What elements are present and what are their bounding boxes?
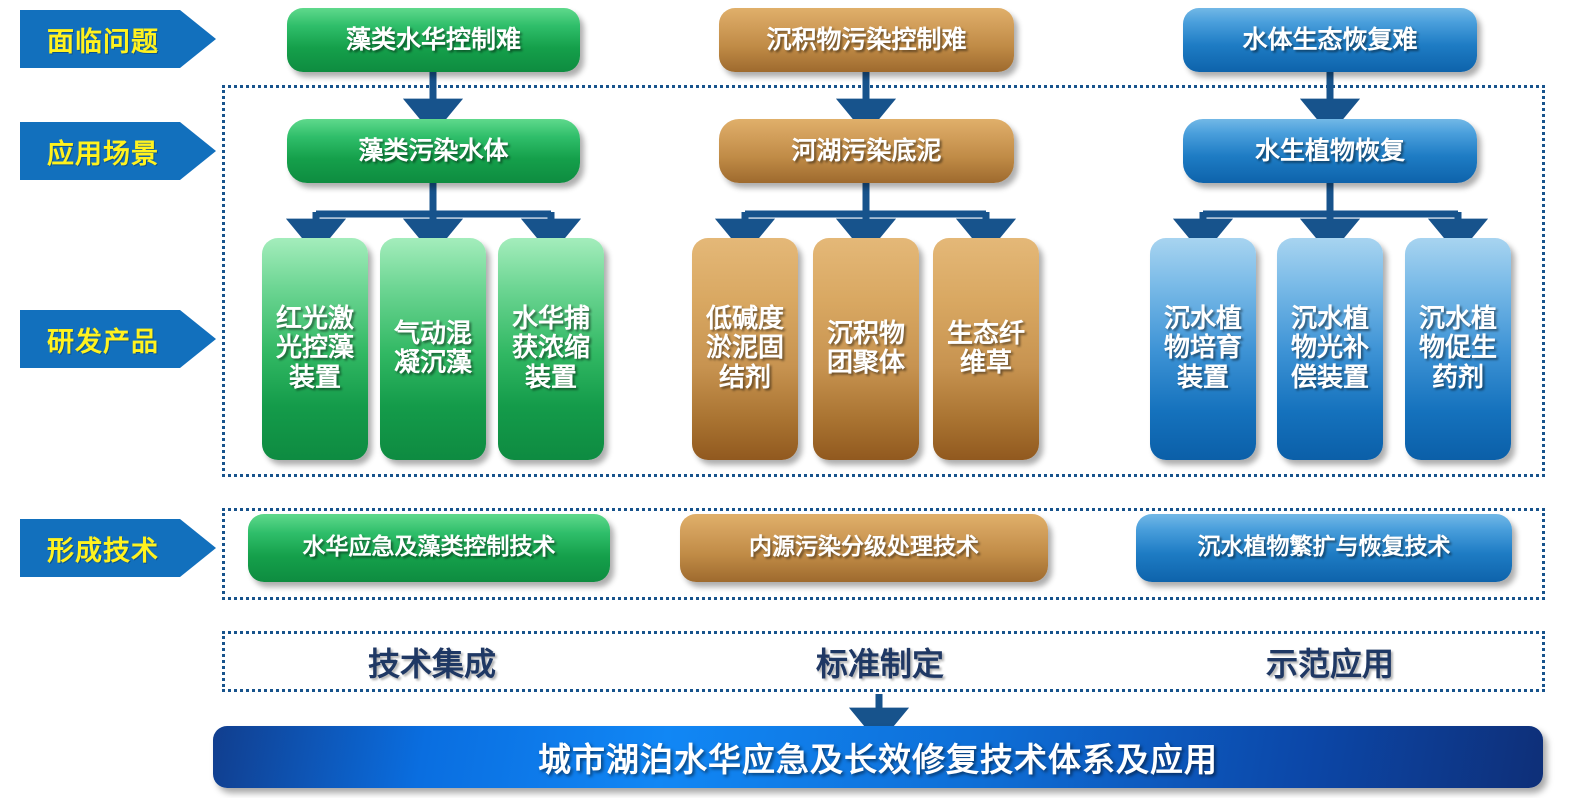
product-box-ecology-2-text: 沉水植物光补偿装置 [1281,305,1379,392]
product-box-sediment-2-text: 沉积物团聚体 [817,320,915,378]
row-label-products: 研发产品 [20,310,216,368]
scenario-box-sediment[interactable]: 河湖污染底泥 [719,119,1014,183]
row-label-scenarios-text: 应用场景 [47,132,159,171]
problem-box-sediment[interactable]: 沉积物污染控制难 [719,8,1014,72]
problem-box-ecology[interactable]: 水体生态恢复难 [1183,8,1477,72]
product-box-algae-3[interactable]: 水华捕获浓缩装置 [498,238,604,460]
stage-label-standard-text: 标准制定 [816,639,944,685]
product-box-algae-2-text: 气动混凝沉藻 [384,320,482,378]
row-label-problems: 面临问题 [20,10,216,68]
row-label-technologies-text: 形成技术 [47,529,159,568]
scenario-box-ecology[interactable]: 水生植物恢复 [1183,119,1477,183]
product-box-ecology-2[interactable]: 沉水植物光补偿装置 [1277,238,1383,460]
technology-box-sediment[interactable]: 内源污染分级处理技术 [680,514,1048,582]
stage-label-demonstration-text: 示范应用 [1266,639,1394,685]
row-label-products-text: 研发产品 [47,320,159,359]
technology-box-algae[interactable]: 水华应急及藻类控制技术 [248,514,610,582]
product-box-algae-3-text: 水华捕获浓缩装置 [502,305,600,392]
scenario-box-algae-text: 藻类污染水体 [358,137,508,165]
product-box-sediment-3[interactable]: 生态纤维草 [933,238,1039,460]
technology-box-sediment-text: 内源污染分级处理技术 [749,535,979,561]
stage-label-integration: 技术集成 [262,634,602,689]
problem-box-algae[interactable]: 藻类水华控制难 [287,8,580,72]
stage-label-integration-text: 技术集成 [368,639,496,685]
product-box-sediment-1-text: 低碱度淤泥固结剂 [696,305,794,392]
technology-box-ecology[interactable]: 沉水植物繁扩与恢复技术 [1136,514,1512,582]
stage-label-standard: 标准制定 [710,634,1050,689]
stage-label-demonstration: 示范应用 [1160,634,1500,689]
technology-box-algae-text: 水华应急及藻类控制技术 [303,535,556,561]
scenario-box-ecology-text: 水生植物恢复 [1255,137,1405,165]
product-box-ecology-1[interactable]: 沉水植物培育装置 [1150,238,1256,460]
final-title-bar[interactable]: 城市湖泊水华应急及长效修复技术体系及应用 [213,726,1543,788]
row-label-technologies: 形成技术 [20,519,216,577]
problem-box-algae-text: 藻类水华控制难 [346,26,521,54]
row-label-problems-text: 面临问题 [47,20,159,59]
product-box-sediment-2[interactable]: 沉积物团聚体 [813,238,919,460]
scenario-box-algae[interactable]: 藻类污染水体 [287,119,580,183]
scenario-box-sediment-text: 河湖污染底泥 [791,137,941,165]
product-box-ecology-3[interactable]: 沉水植物促生药剂 [1405,238,1511,460]
product-box-ecology-3-text: 沉水植物促生药剂 [1409,305,1507,392]
product-box-algae-1-text: 红光激光控藻装置 [266,305,364,392]
product-box-algae-1[interactable]: 红光激光控藻装置 [262,238,368,460]
product-box-sediment-3-text: 生态纤维草 [937,320,1035,378]
product-box-ecology-1-text: 沉水植物培育装置 [1154,305,1252,392]
product-box-sediment-1[interactable]: 低碱度淤泥固结剂 [692,238,798,460]
product-box-algae-2[interactable]: 气动混凝沉藻 [380,238,486,460]
technology-box-ecology-text: 沉水植物繁扩与恢复技术 [1198,535,1451,561]
final-title-bar-text: 城市湖泊水华应急及长效修复技术体系及应用 [538,733,1218,781]
row-label-scenarios: 应用场景 [20,122,216,180]
problem-box-sediment-text: 沉积物污染控制难 [766,26,966,54]
problem-box-ecology-text: 水体生态恢复难 [1242,26,1417,54]
